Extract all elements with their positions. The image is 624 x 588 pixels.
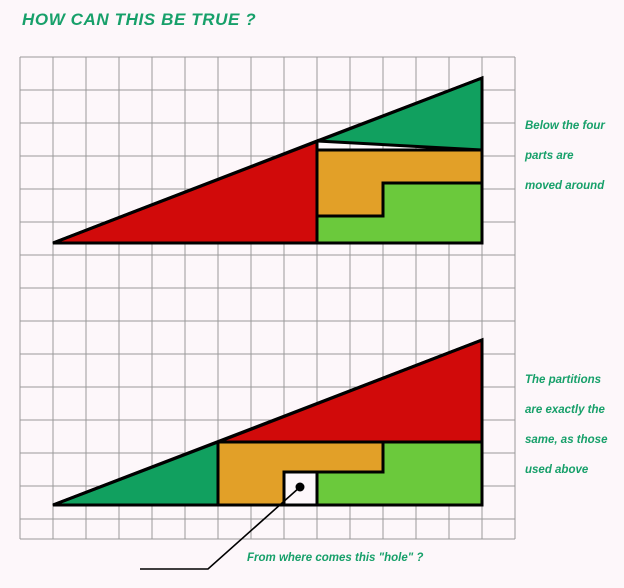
annotation-lower-line-3: same, as those	[525, 434, 607, 446]
annotation-lower-line-1: The partitions	[525, 374, 607, 386]
geometry-figure	[0, 0, 624, 588]
page-title: HOW CAN THIS BE TRUE ?	[22, 10, 256, 30]
annotation-upper-line-3: moved around	[525, 180, 605, 192]
annotation-lower-line-4: used above	[525, 464, 607, 476]
hole-pointer-dot	[296, 483, 305, 492]
upper-figure	[53, 78, 482, 243]
annotation-hole: From where comes this "hole" ?	[247, 552, 423, 564]
annotation-upper: Below the four parts are moved around	[525, 120, 605, 210]
annotation-lower: The partitions are exactly the same, as …	[525, 374, 607, 494]
puzzle-canvas: HOW CAN THIS BE TRUE ? Below the	[0, 0, 624, 588]
annotation-upper-line-2: parts are	[525, 150, 605, 162]
annotation-lower-line-2: are exactly the	[525, 404, 607, 416]
lower-figure	[53, 340, 482, 505]
annotation-upper-line-1: Below the four	[525, 120, 605, 132]
